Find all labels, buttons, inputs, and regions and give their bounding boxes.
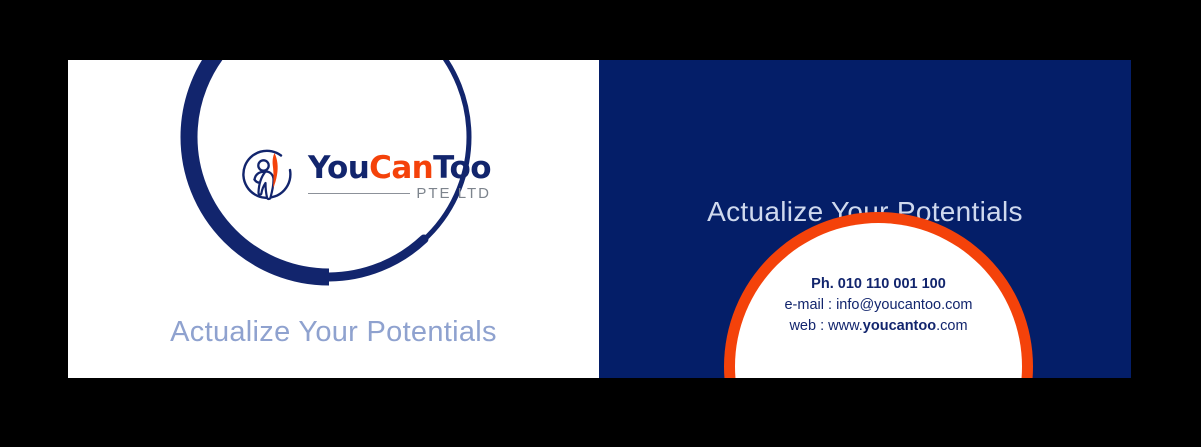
contact-circle: Ph. 010 110 001 100 e-mail : info@youcan… bbox=[735, 223, 1022, 378]
logo-word-you: You bbox=[308, 150, 369, 186]
front-tagline: Actualize Your Potentials bbox=[68, 316, 599, 349]
contact-web-suffix: .com bbox=[936, 318, 967, 334]
logo-word-too: Too bbox=[433, 150, 491, 186]
company-logo: YouCanToo PTE LTD bbox=[241, 148, 491, 206]
contact-email-label: e-mail : bbox=[784, 297, 836, 313]
business-card-front: YouCanToo PTE LTD Actualize Your Potenti… bbox=[68, 60, 599, 378]
logo-subtitle-row: PTE LTD bbox=[308, 185, 491, 202]
logo-wordmark-text: YouCanToo bbox=[308, 153, 491, 185]
card-mockup-canvas: YouCanToo PTE LTD Actualize Your Potenti… bbox=[0, 0, 1201, 447]
contact-web-prefix: www. bbox=[828, 318, 863, 334]
logo-subtitle: PTE LTD bbox=[416, 185, 491, 202]
contact-email-value[interactable]: info@youcantoo.com bbox=[836, 297, 972, 313]
logo-divider-rule bbox=[308, 193, 410, 194]
contact-web-label: web : bbox=[789, 318, 828, 334]
logo-word-can: Can bbox=[369, 150, 433, 186]
contact-email: e-mail : info@youcantoo.com bbox=[735, 295, 1022, 316]
business-card-back: Actualize Your Potentials Ph. 010 110 00… bbox=[599, 60, 1131, 378]
logo-wordmark: YouCanToo PTE LTD bbox=[308, 152, 491, 203]
contact-details: Ph. 010 110 001 100 e-mail : info@youcan… bbox=[735, 274, 1022, 337]
contact-web: web : www.youcantoo.com bbox=[735, 316, 1022, 337]
youcantoo-figure-icon bbox=[241, 148, 299, 206]
contact-web-brand[interactable]: youcantoo bbox=[863, 318, 936, 334]
contact-phone: Ph. 010 110 001 100 bbox=[735, 274, 1022, 295]
